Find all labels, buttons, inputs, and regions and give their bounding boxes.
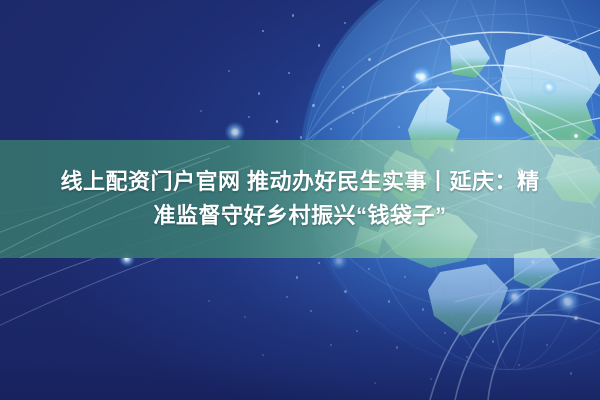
headline-line-2: 准监督守好乡村振兴“钱袋子” — [147, 200, 452, 232]
headline-line-1: 线上配资门户官网 推动办好民生实事丨延庆：精 — [54, 166, 545, 198]
bottom-vignette — [0, 258, 600, 400]
banner-image: 线上配资门户官网 推动办好民生实事丨延庆：精 准监督守好乡村振兴“钱袋子” — [0, 0, 600, 400]
headline-text: 线上配资门户官网 推动办好民生实事丨延庆：精 准监督守好乡村振兴“钱袋子” — [0, 140, 600, 258]
